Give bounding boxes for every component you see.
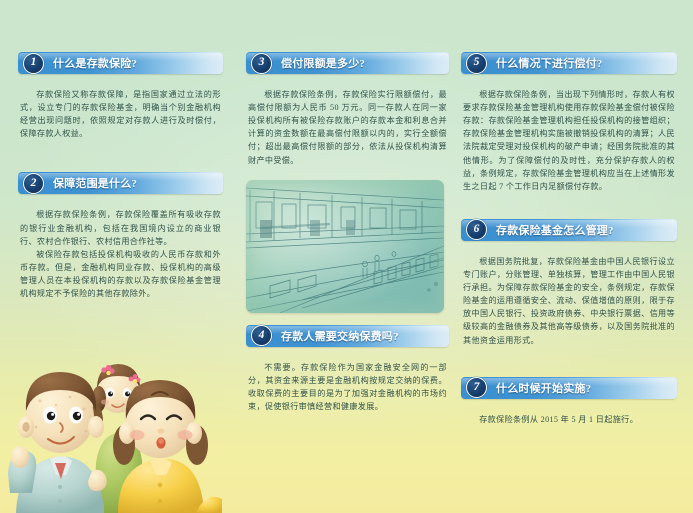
- cartoon-family-illustration: [0, 353, 240, 513]
- section-6-paragraph-1: 根据国务院批复，存款保险基金由中国人民银行设立专门账户，分账管理、单独核算，管理…: [463, 255, 675, 347]
- section-5-paragraph-1: 根据存款保险条例，当出现下列情形时，存款人有权要求存款保险基金管理机构使用存款保…: [463, 88, 675, 193]
- section-header-4: 4 存款人需要交纳保费吗?: [246, 325, 449, 347]
- section-badge-1: 1: [23, 53, 44, 74]
- photo-vignette: [246, 180, 444, 313]
- family-artwork: [0, 353, 240, 513]
- section-header-6: 6 存款保险基金怎么管理?: [461, 219, 677, 241]
- section-title-1: 什么是存款保险?: [53, 55, 137, 71]
- section-badge-6: 6: [466, 219, 487, 240]
- section-1-paragraph-1: 存款保险又称存款保障，是指国家通过立法的形式，设立专门的存款保险基金，明确当个别…: [20, 88, 221, 140]
- column-right: 5 什么情况下进行偿付? 根据存款保险条例，当出现下列情形时，存款人有权要求存款…: [461, 0, 677, 513]
- section-title-3: 偿付限额是多少?: [281, 55, 365, 71]
- bank-hall-sketch-image: [246, 180, 444, 313]
- section-2-paragraph-1: 根据存款保险条例，存款保险覆盖所有吸收存款的银行业金融机构，包括在我国境内设立的…: [20, 208, 221, 247]
- section-header-3: 3 偿付限额是多少?: [246, 52, 449, 74]
- section-title-7: 什么时候开始实施?: [496, 380, 591, 396]
- section-7-paragraph-1: 存款保险条例从 2015 年 5 月 1 日起施行。: [463, 413, 675, 426]
- section-3-paragraph-1: 根据存款保险条例，存款保险实行限额偿付，最高偿付限额为人民币 50 万元。同一存…: [248, 88, 447, 167]
- section-badge-7: 7: [466, 377, 487, 398]
- section-header-5: 5 什么情况下进行偿付?: [461, 52, 677, 74]
- father-figure: [8, 372, 107, 513]
- section-header-2: 2 保障范围是什么?: [18, 172, 223, 194]
- section-badge-5: 5: [466, 53, 487, 74]
- deposit-insurance-poster: 1 什么是存款保险? 存款保险又称存款保障，是指国家通过立法的形式，设立专门的存…: [0, 0, 693, 513]
- section-header-7: 7 什么时候开始实施?: [461, 377, 677, 399]
- section-title-5: 什么情况下进行偿付?: [496, 55, 603, 71]
- column-middle: 3 偿付限额是多少? 根据存款保险条例，存款保险实行限额偿付，最高偿付限额为人民…: [246, 0, 449, 513]
- section-4-paragraph-1: 不需要。存款保险作为国家金融安全网的一部分，其资金来源主要是金融机构按规定交纳的…: [248, 361, 447, 413]
- section-badge-2: 2: [23, 173, 44, 194]
- section-badge-4: 4: [251, 325, 272, 346]
- section-badge-3: 3: [251, 53, 272, 74]
- section-2-paragraph-2: 被保险存款包括投保机构吸收的人民币存款和外币存款。但是，金融机构同业存款、投保机…: [20, 248, 221, 300]
- section-title-4: 存款人需要交纳保费吗?: [281, 328, 399, 344]
- section-header-1: 1 什么是存款保险?: [18, 52, 223, 74]
- section-title-2: 保障范围是什么?: [53, 175, 137, 191]
- mother-figure: [113, 380, 222, 513]
- section-title-6: 存款保险基金怎么管理?: [496, 222, 614, 238]
